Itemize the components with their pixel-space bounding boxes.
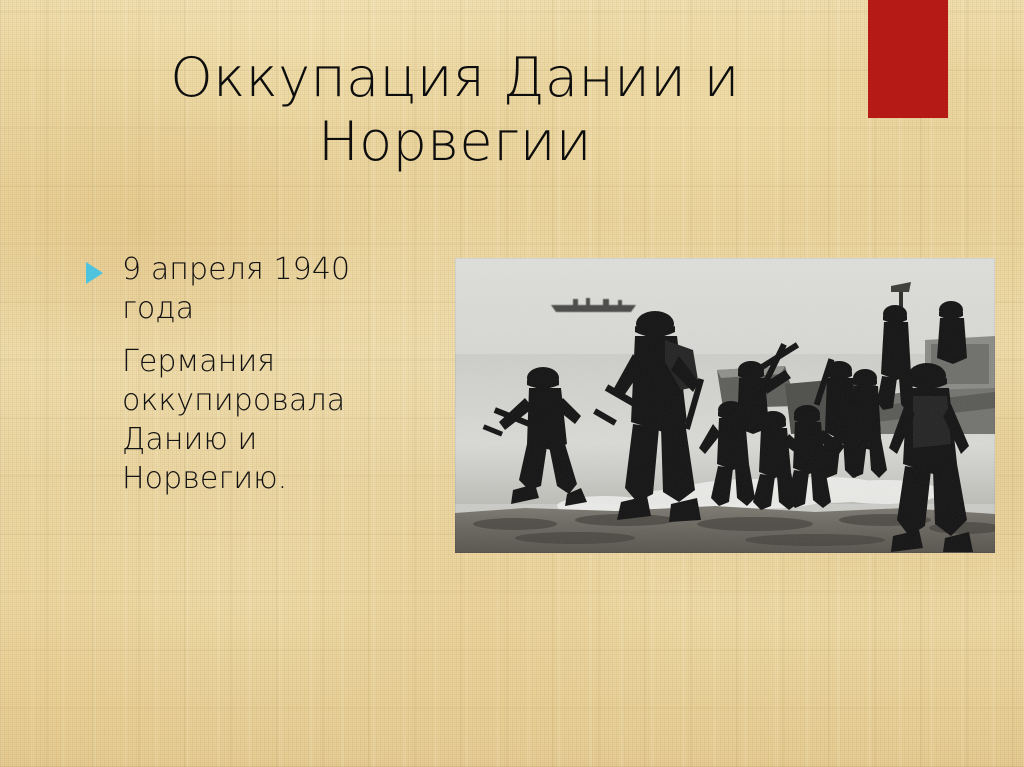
bullet-list-item: 9 апреля 1940 года: [86, 250, 426, 328]
bullet-item-label: 9 апреля 1940 года: [122, 252, 350, 326]
page-title: Оккупация Дании и Норвегии: [60, 46, 850, 174]
triangle-bullet-icon: [86, 262, 103, 284]
red-accent-rectangle: [868, 0, 948, 118]
body-text-block: 9 апреля 1940 года Германия оккупировала…: [86, 250, 426, 498]
slide-canvas: Оккупация Дании и Норвегии 9 апреля 1940…: [0, 0, 1024, 767]
wwii-beach-landing-photo: [455, 258, 995, 553]
body-paragraph: Германия оккупировала Данию и Норвегию.: [86, 342, 426, 498]
body-paragraph-text: Германия оккупировала Данию и Норвегию.: [122, 344, 345, 496]
